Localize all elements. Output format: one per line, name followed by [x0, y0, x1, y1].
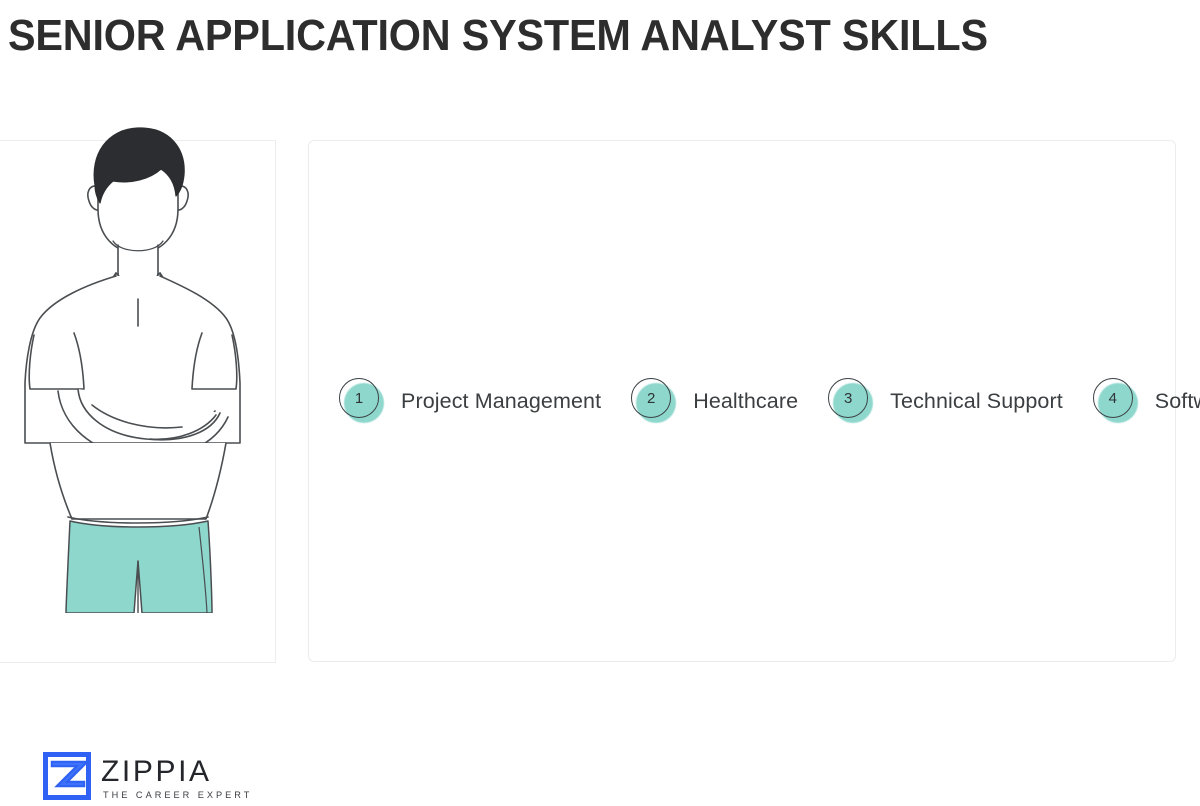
skills-card: 1 Project Management 2 Healthcare 3 Tech…: [308, 140, 1176, 662]
zippia-wordmark: ZIPPIA: [101, 757, 212, 787]
page-title: SENIOR APPLICATION SYSTEM ANALYST SKILLS: [8, 14, 988, 58]
skill-item[interactable]: 2 Healthcare: [601, 175, 798, 627]
illustration-panel: ZIPPIA THE CAREER EXPERT: [0, 140, 276, 663]
skill-number: 3: [828, 378, 868, 418]
person-illustration-icon: [0, 113, 276, 613]
skill-number-badge: 1: [339, 378, 385, 424]
skills-list: 1 Project Management 2 Healthcare 3 Tech…: [309, 141, 1175, 661]
skill-label: Software Development: [1155, 389, 1200, 414]
skill-item[interactable]: 1 Project Management: [309, 175, 601, 627]
zippia-wordmark-group: ZIPPIA THE CAREER EXPERT: [101, 757, 252, 800]
zippia-tagline: THE CAREER EXPERT: [103, 791, 252, 800]
skill-number-badge: 2: [631, 378, 677, 424]
skill-item[interactable]: 4 Software Development: [1063, 175, 1200, 627]
skill-label: Healthcare: [693, 389, 798, 414]
zippia-z-mark-icon: [42, 751, 92, 806]
skill-number: 1: [339, 378, 379, 418]
skill-number-badge: 3: [828, 378, 874, 424]
skill-item[interactable]: 3 Technical Support: [798, 175, 1063, 627]
skill-number: 4: [1093, 378, 1133, 418]
skill-number-badge: 4: [1093, 378, 1139, 424]
skill-label: Technical Support: [890, 389, 1063, 414]
zippia-logo[interactable]: ZIPPIA THE CAREER EXPERT: [42, 751, 252, 806]
skill-number: 2: [631, 378, 671, 418]
skill-label: Project Management: [401, 389, 601, 414]
